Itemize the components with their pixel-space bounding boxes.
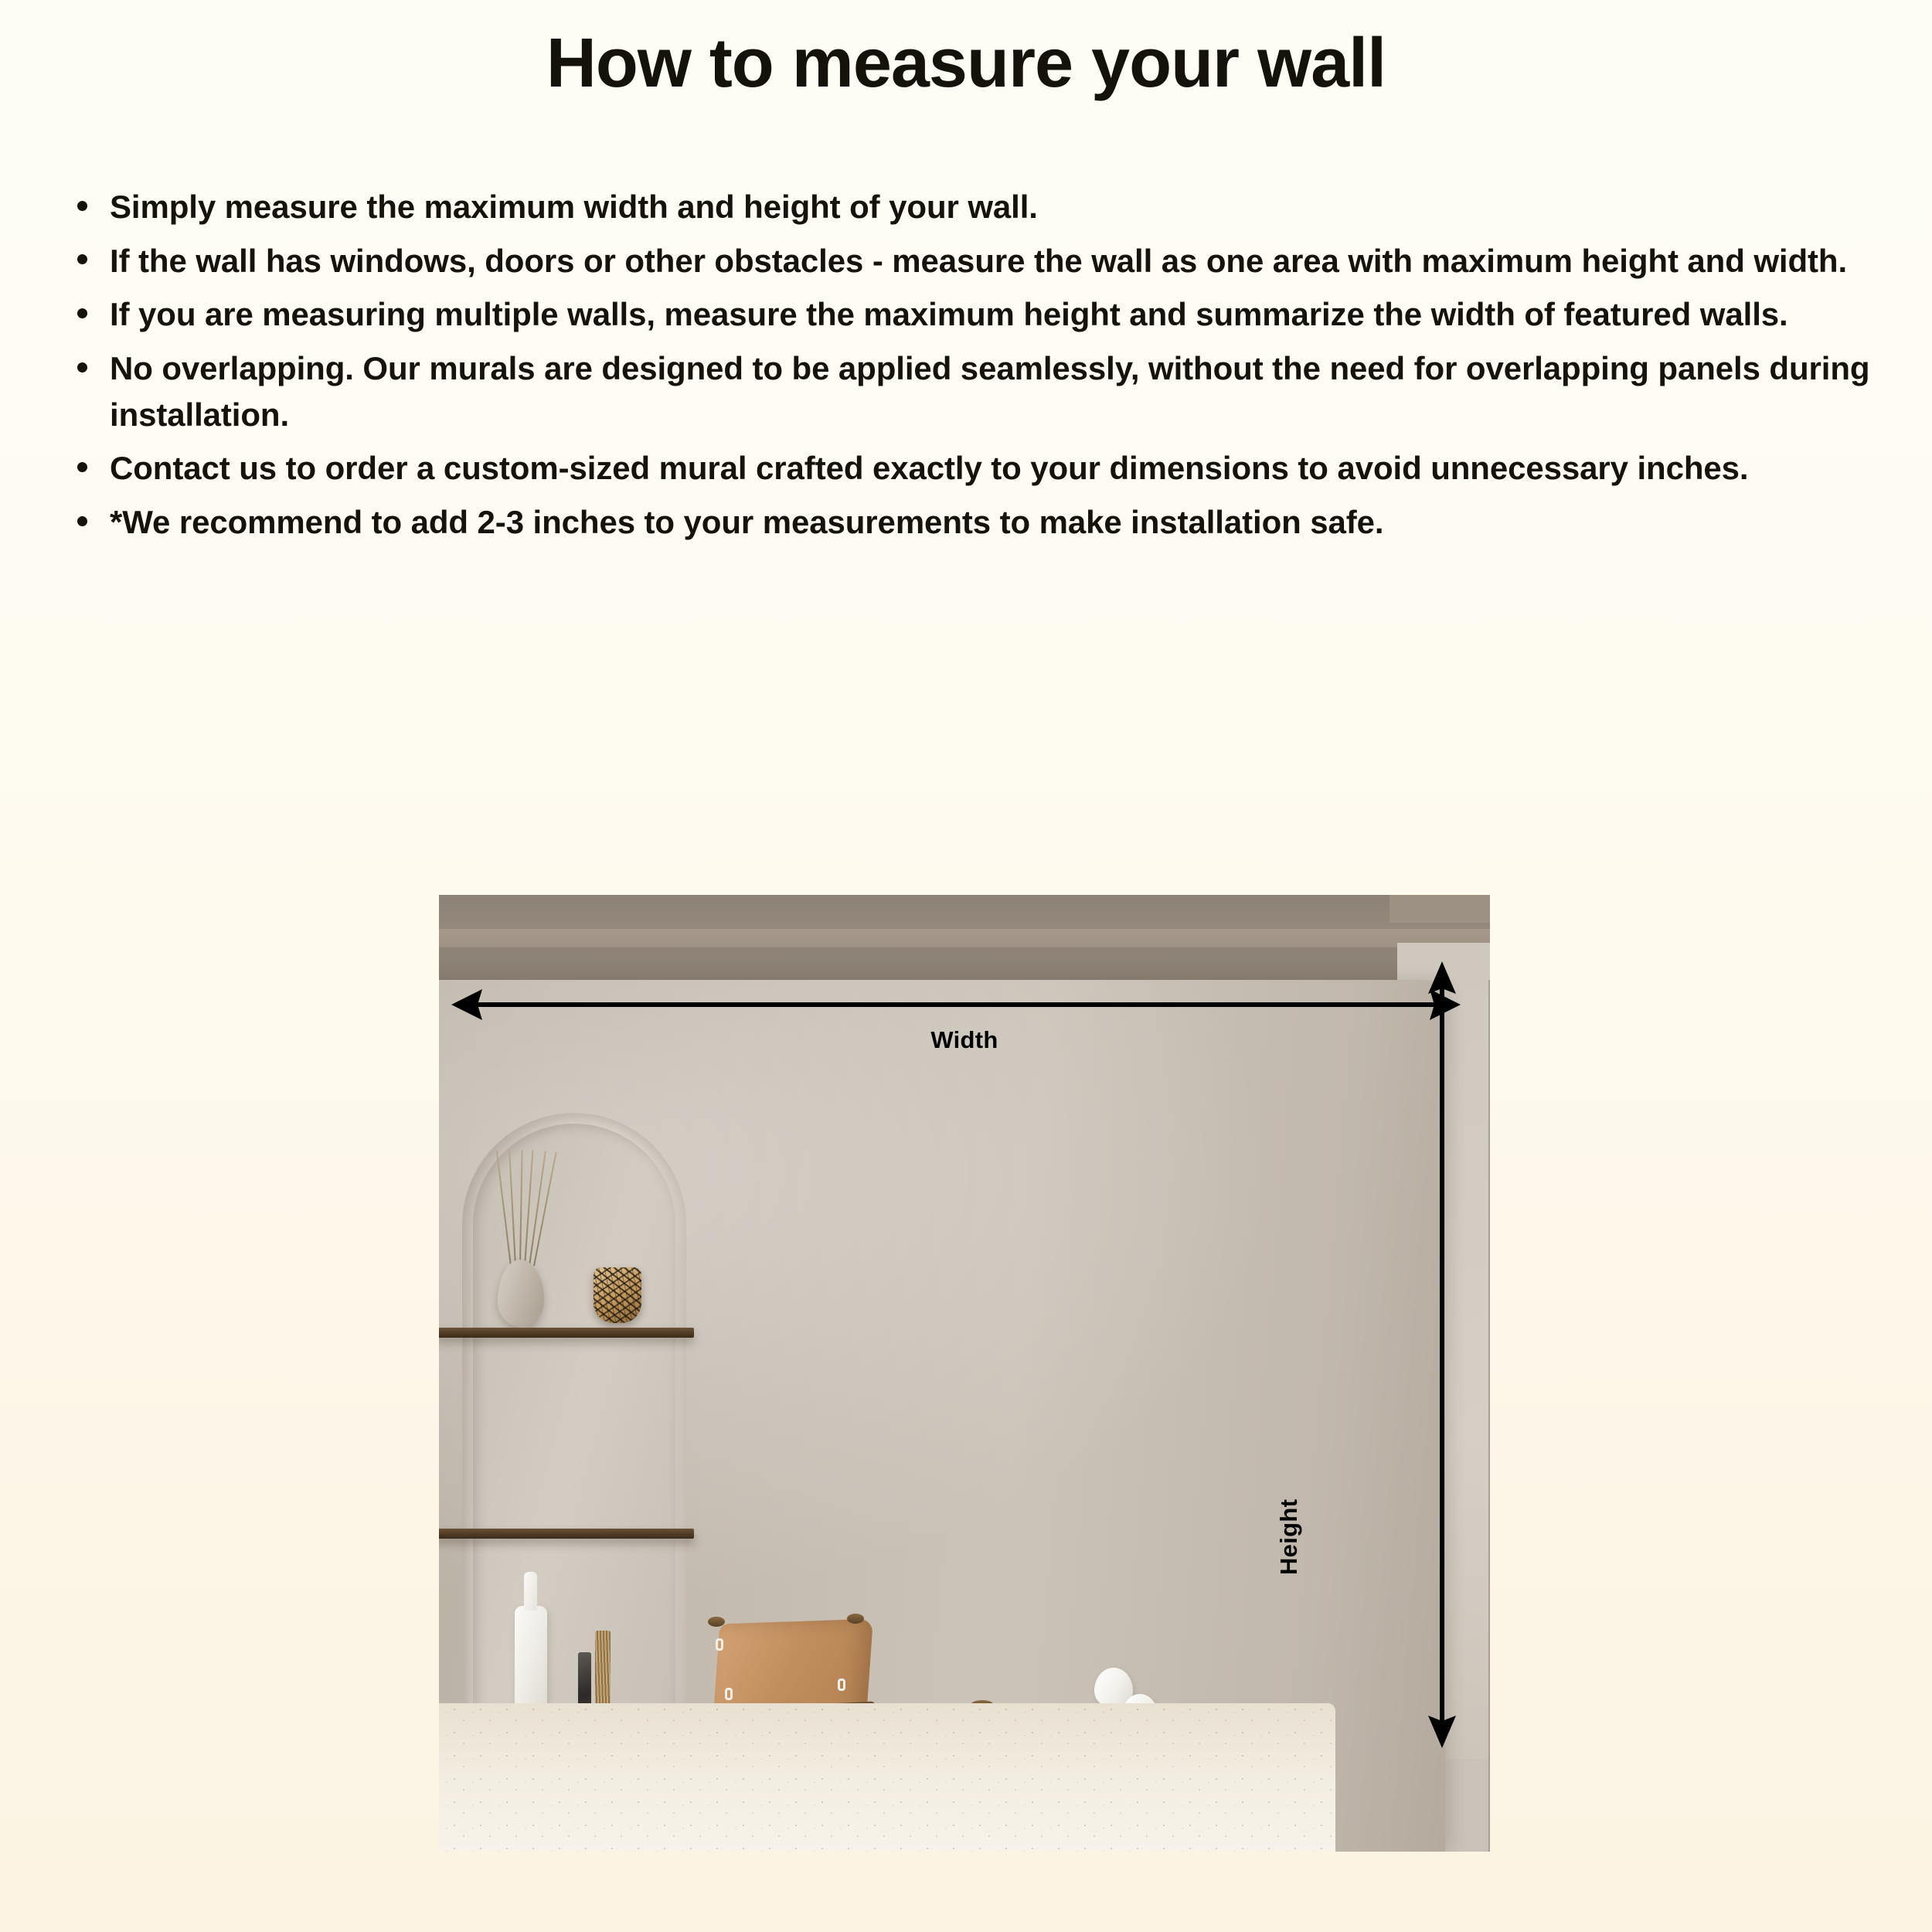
wall-shelf-middle	[439, 1529, 694, 1539]
wall-shelf-upper	[439, 1328, 694, 1338]
bullet-icon	[77, 201, 87, 211]
list-item: If the wall has windows, doors or other …	[70, 238, 1878, 284]
woven-basket-vase	[594, 1267, 641, 1323]
arched-niche	[462, 1113, 686, 1762]
bullet-icon	[77, 254, 87, 264]
ceiling-soffit	[439, 929, 1490, 949]
list-item-text: Simply measure the maximum width and hei…	[110, 189, 1038, 225]
textured-area-rug	[439, 1703, 1335, 1852]
list-item-text: *We recommend to add 2-3 inches to your …	[110, 504, 1383, 540]
chair-back-knob-right	[847, 1614, 864, 1624]
interior-scene	[439, 895, 1490, 1852]
measuring-tips-list: Simply measure the maximum width and hei…	[70, 184, 1878, 553]
bullet-icon	[77, 462, 87, 472]
page-title: How to measure your wall	[0, 25, 1932, 103]
list-item: No overlapping. Our murals are designed …	[70, 345, 1878, 437]
bullet-icon	[77, 308, 87, 318]
arched-niche-inner	[473, 1124, 675, 1762]
list-item: If you are measuring multiple walls, mea…	[70, 291, 1878, 338]
room-illustration: Width Height	[439, 895, 1490, 1852]
list-item: Contact us to order a custom-sized mural…	[70, 445, 1878, 492]
ceiling-far-band	[439, 895, 1490, 932]
bullet-icon	[77, 516, 87, 526]
ceiling-mid-band	[439, 947, 1490, 983]
list-item: *We recommend to add 2-3 inches to your …	[70, 499, 1878, 546]
bullet-icon	[77, 362, 87, 372]
ceiling-corner-notch	[1389, 895, 1490, 923]
list-item-text: No overlapping. Our murals are designed …	[110, 350, 1869, 433]
chair-lace	[716, 1638, 723, 1651]
list-item: Simply measure the maximum width and hei…	[70, 184, 1878, 230]
poster-root: How to measure your wall Simply measure …	[0, 0, 1932, 1932]
chair-lace	[725, 1688, 733, 1700]
chair-lace	[838, 1679, 845, 1691]
feature-wall-edge	[1488, 980, 1490, 1852]
list-item-text: If the wall has windows, doors or other …	[110, 243, 1847, 279]
list-item-text: If you are measuring multiple walls, mea…	[110, 296, 1788, 332]
chair-back-knob-left	[708, 1617, 725, 1627]
dried-reeds	[507, 1150, 543, 1266]
list-item-text: Contact us to order a custom-sized mural…	[110, 450, 1749, 486]
